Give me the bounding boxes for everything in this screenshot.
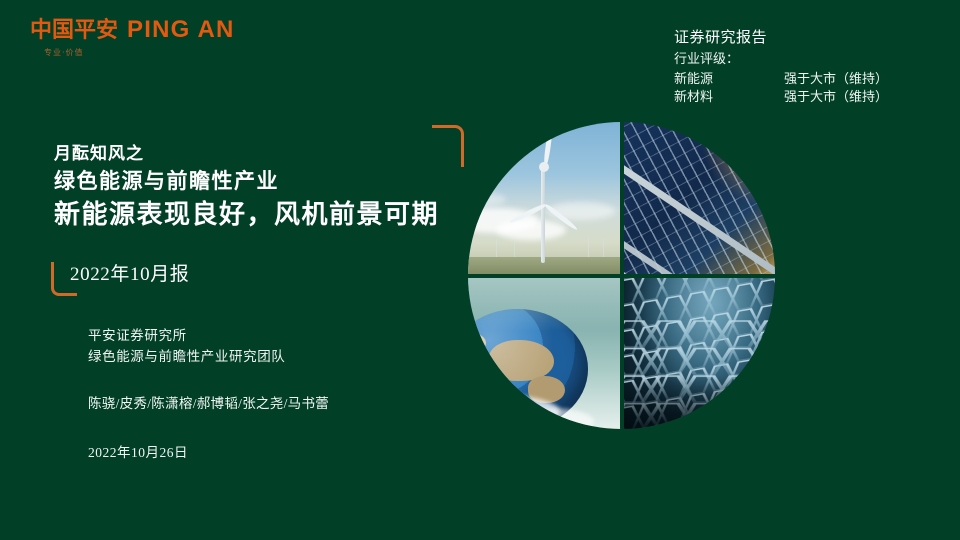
title-series: 绿色能源与前瞻性产业 xyxy=(54,168,474,194)
logo-tagline: 专业·价值 xyxy=(44,49,260,57)
ping-an-logo: 中国平安 PING AN 专业·价值 xyxy=(30,18,260,70)
collage-divider-horizontal xyxy=(468,274,775,278)
page-title: 新能源表现良好，风机前景可期 xyxy=(54,198,474,232)
issue-label: 2022年10月报 xyxy=(70,259,189,286)
rating-industry-value: 强于大市（维持） xyxy=(784,88,942,106)
author-list: 陈骁/皮秀/陈潇榕/郝博韬/张之尧/马书蕾 xyxy=(88,394,428,415)
logo-wordmark: 中国平安 PING AN xyxy=(30,18,260,42)
report-meta-block: 证券研究报告 行业评级： 新能源 强于大市（维持） 新材料 强于大市（维持） xyxy=(674,28,942,107)
rating-row-new-energy: 新能源 强于大市（维持） xyxy=(674,70,942,88)
earth-globe-ocean-photo xyxy=(468,276,622,430)
byline-block: 平安证券研究所 绿色能源与前瞻性产业研究团队 陈骁/皮秀/陈潇榕/郝博韬/张之尧… xyxy=(88,326,428,464)
rating-industry-name: 新材料 xyxy=(674,88,784,106)
title-kicker: 月酝知风之 xyxy=(54,143,474,164)
rating-industry-value: 强于大市（维持） xyxy=(784,70,942,88)
research-institute-name: 平安证券研究所 xyxy=(88,326,428,347)
report-type-label: 证券研究报告 xyxy=(674,28,942,49)
rating-row-new-materials: 新材料 强于大市（维持） xyxy=(674,88,942,106)
headline-block: 月酝知风之 绿色能源与前瞻性产业 新能源表现良好，风机前景可期 xyxy=(54,143,474,231)
presentation-cover-slide: 中国平安 PING AN 专业·价值 证券研究报告 行业评级： 新能源 强于大市… xyxy=(0,0,960,540)
wind-turbine-photo xyxy=(468,122,622,276)
logo-english-text: PING AN xyxy=(127,18,235,42)
publish-date: 2022年10月26日 xyxy=(88,443,428,464)
research-team-name: 绿色能源与前瞻性产业研究团队 xyxy=(88,347,428,368)
rating-industry-name: 新能源 xyxy=(674,70,784,88)
circular-photo-collage xyxy=(468,122,775,429)
graphene-lattice-photo xyxy=(622,276,776,430)
solar-panel-photo xyxy=(622,122,776,276)
logo-chinese-text: 中国平安 xyxy=(30,20,118,42)
industry-rating-label: 行业评级： xyxy=(674,50,942,68)
